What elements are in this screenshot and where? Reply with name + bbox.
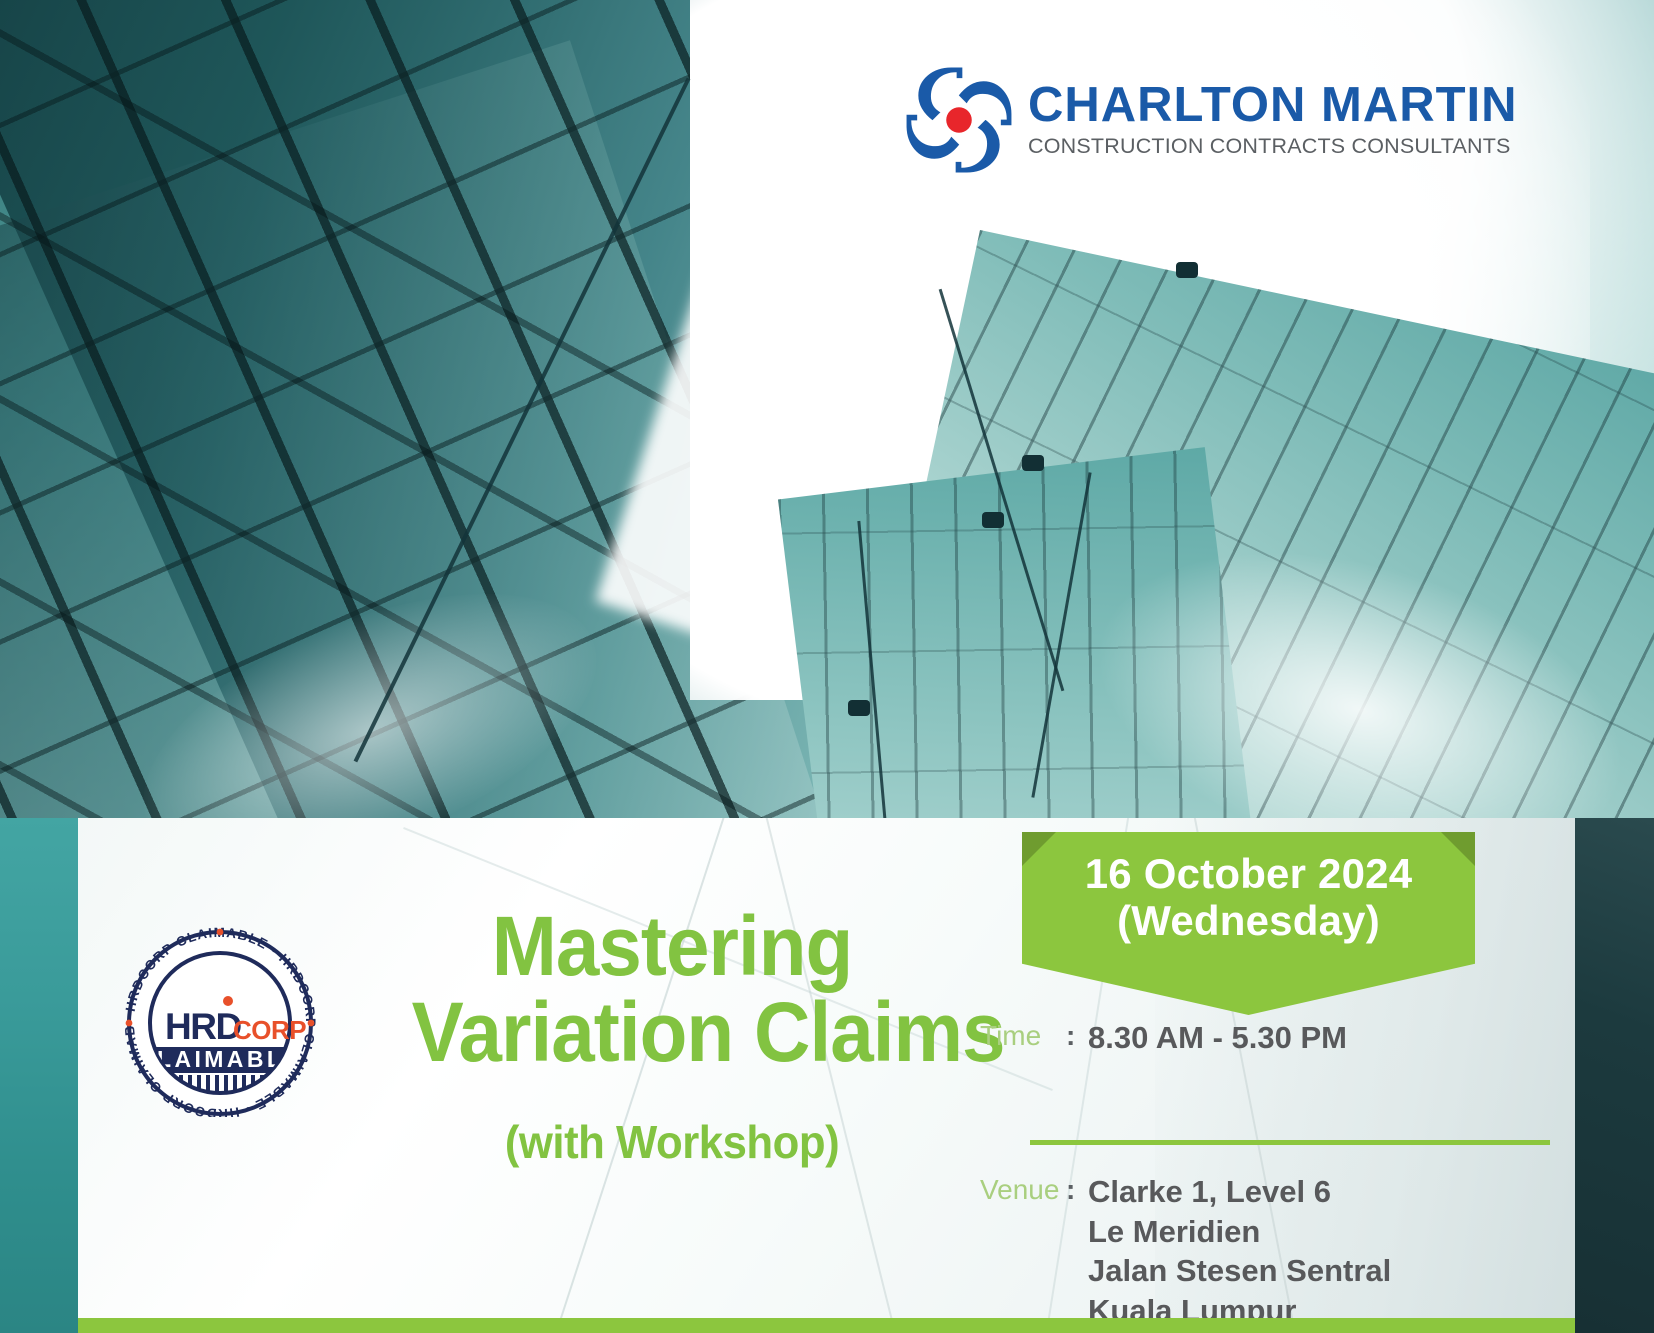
event-flyer: CHARLTON MARTIN CONSTRUCTION CONTRACTS C… <box>0 0 1654 1333</box>
right-photo-strip <box>1575 818 1654 1333</box>
time-colon: : <box>1066 1018 1088 1053</box>
roof-fitting-1 <box>1176 262 1198 278</box>
venue-value: Clarke 1, Level 6 Le Meridien Jalan Stes… <box>1088 1172 1391 1331</box>
venue-label: Venue <box>980 1172 1066 1207</box>
brand-name: CHARLTON MARTIN <box>1028 81 1518 131</box>
time-row: Time : 8.30 AM - 5.30 PM <box>980 1018 1500 1058</box>
brand-logo: CHARLTON MARTIN CONSTRUCTION CONTRACTS C… <box>900 60 1460 180</box>
details-divider <box>1030 1140 1550 1145</box>
logo-center-dot <box>946 107 972 133</box>
date-banner-fold-right <box>1441 832 1475 866</box>
venue-line: Clarke 1, Level 6 <box>1088 1172 1391 1212</box>
venue-row: Venue : Clarke 1, Level 6 Le Meridien Ja… <box>980 1172 1520 1331</box>
event-date-line-1: 16 October 2024 <box>1085 850 1413 897</box>
time-value: 8.30 AM - 5.30 PM <box>1088 1018 1347 1058</box>
date-banner-fold-left <box>1022 832 1056 866</box>
svg-text:HRD: HRD <box>165 1006 241 1047</box>
event-title-line-2: Variation Claims <box>412 991 933 1073</box>
time-label: Time <box>980 1018 1066 1053</box>
venue-line: Jalan Stesen Sentral <box>1088 1251 1391 1291</box>
charlton-martin-cross-mark <box>900 65 1018 175</box>
footer-green-bar <box>78 1318 1575 1333</box>
venue-colon: : <box>1066 1172 1088 1207</box>
svg-text:CORP: CORP <box>233 1015 306 1045</box>
left-photo-strip <box>0 818 78 1333</box>
roof-fitting-3 <box>982 512 1004 528</box>
roof-fitting-2 <box>1022 455 1044 471</box>
event-title: Mastering Variation Claims <box>392 905 952 1074</box>
event-title-line-1: Mastering <box>412 905 933 987</box>
brand-tagline: CONSTRUCTION CONTRACTS CONSULTANTS <box>1028 134 1518 159</box>
venue-line: Le Meridien <box>1088 1212 1391 1252</box>
event-subtitle: (with Workshop) <box>406 1115 938 1169</box>
event-date-line-2: (Wednesday) <box>1117 897 1380 944</box>
hrd-corp-claimable-seal: HRDCORP CLAIMABLE • HRDCORP CLAIMABLE • … <box>108 917 332 1117</box>
roof-fitting-4 <box>848 700 870 716</box>
